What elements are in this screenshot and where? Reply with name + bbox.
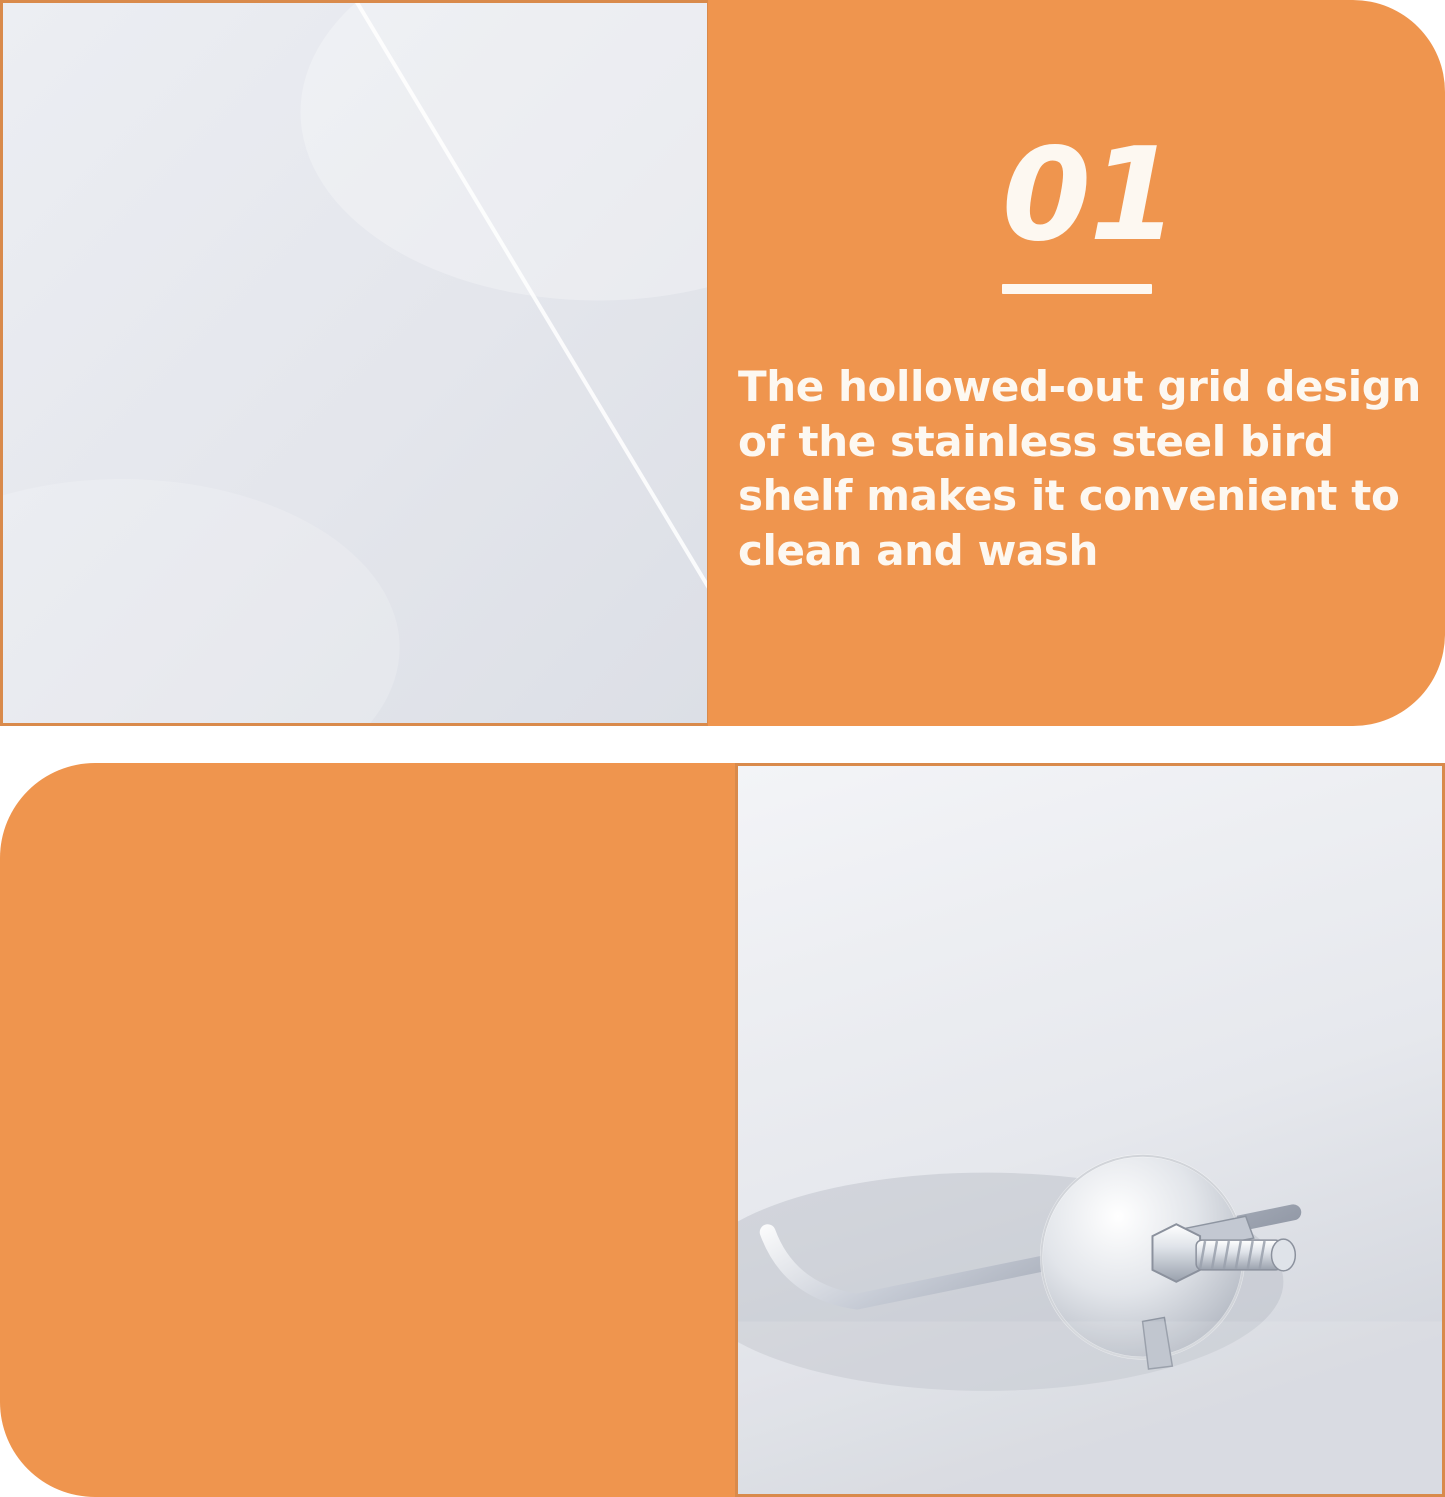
wire-mesh-grid-corner-image	[3, 3, 707, 723]
feature-1-number: 01	[1002, 132, 1176, 260]
feature-2-photo	[735, 763, 1445, 1497]
feature-1-copy-panel: 01 The hollowed-out grid design of the s…	[708, 0, 1445, 726]
feature-1-underline-rule	[1002, 284, 1152, 294]
wire-mesh-grill-with-bolt-image	[738, 766, 1442, 1494]
feature-1-number-block: 01	[1002, 132, 1176, 294]
feature-1-description: The hollowed-out grid design of the stai…	[738, 360, 1428, 578]
product-feature-infographic: 01 The hollowed-out grid design of the s…	[0, 0, 1445, 1497]
feature-2-copy-panel: 02 Metal fittings are installed more sta…	[0, 763, 737, 1497]
feature-1-photo	[0, 0, 710, 726]
